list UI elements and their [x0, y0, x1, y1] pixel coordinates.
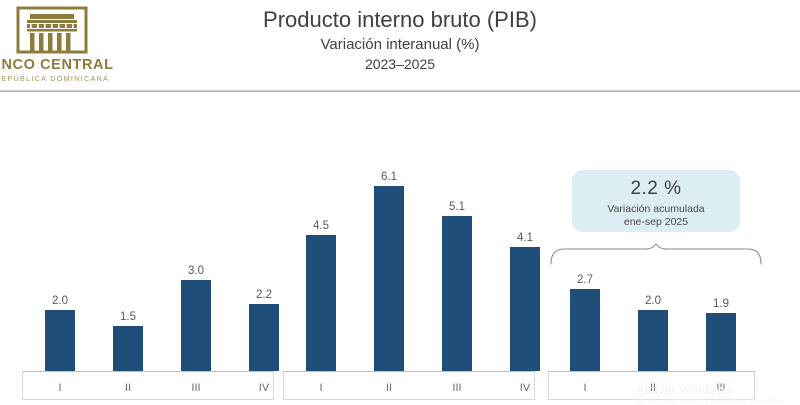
accumulated-period-brace	[548, 243, 764, 265]
bar-value-label: 2.0	[626, 295, 680, 307]
axis-tick-label: I	[33, 382, 87, 394]
bar-chart: 2.01.53.02.24.56.15.14.12.72.01.9 IIIIII…	[0, 100, 800, 400]
bar-value-label: 3.0	[169, 265, 223, 277]
windows-activation-watermark: Activar Windows Ve a Configuración para …	[636, 383, 800, 405]
title-block: Producto interno bruto (PIB) Variación i…	[0, 6, 800, 73]
bar	[374, 186, 404, 371]
axis-tick-label: III	[430, 382, 484, 394]
axis-tick-label: I	[294, 382, 348, 394]
axis-tick-label: II	[101, 382, 155, 394]
bar-value-label: 2.0	[33, 295, 87, 307]
bar-value-label: 4.1	[498, 232, 552, 244]
bar-value-label: 1.5	[101, 311, 155, 323]
bar	[442, 216, 472, 371]
axis-tick-label: III	[169, 382, 223, 394]
callout-line-1: Variación acumulada	[572, 203, 740, 215]
axis-tick-label: II	[362, 382, 416, 394]
watermark-line-1: Activar Windows	[636, 383, 800, 397]
bar	[181, 280, 211, 371]
bar	[45, 310, 75, 371]
accumulated-variation-callout: 2.2 % Variación acumulada ene-sep 2025	[572, 170, 740, 232]
bar	[638, 310, 668, 371]
bar-value-label: 2.7	[558, 274, 612, 286]
page-subtitle-2: 2023–2025	[0, 55, 800, 73]
callout-line-2: ene-sep 2025	[572, 216, 740, 228]
header-divider	[0, 90, 800, 92]
bar-value-label: 1.9	[694, 298, 748, 310]
bar	[249, 304, 279, 371]
bar	[113, 326, 143, 371]
page-subtitle-1: Variación interanual (%)	[0, 35, 800, 55]
callout-value: 2.2 %	[572, 178, 740, 200]
bar-value-label: 2.2	[237, 289, 291, 301]
bar-value-label: 6.1	[362, 171, 416, 183]
bar-value-label: 5.1	[430, 201, 484, 213]
bar	[510, 247, 540, 371]
page-header: ANCO CENTRAL REPÚBLICA DOMINICANA Produc…	[0, 0, 800, 90]
axis-tick-label: IV	[498, 382, 552, 394]
page-title: Producto interno bruto (PIB)	[0, 6, 800, 34]
bar	[306, 235, 336, 371]
logo-subtitle: REPÚBLICA DOMINICANA	[0, 74, 122, 83]
watermark-line-2: Ve a Configuración para activar Windows.	[636, 397, 800, 405]
bar	[570, 289, 600, 371]
axis-tick-label: I	[558, 382, 612, 394]
bar-value-label: 4.5	[294, 220, 348, 232]
bar	[706, 313, 736, 371]
